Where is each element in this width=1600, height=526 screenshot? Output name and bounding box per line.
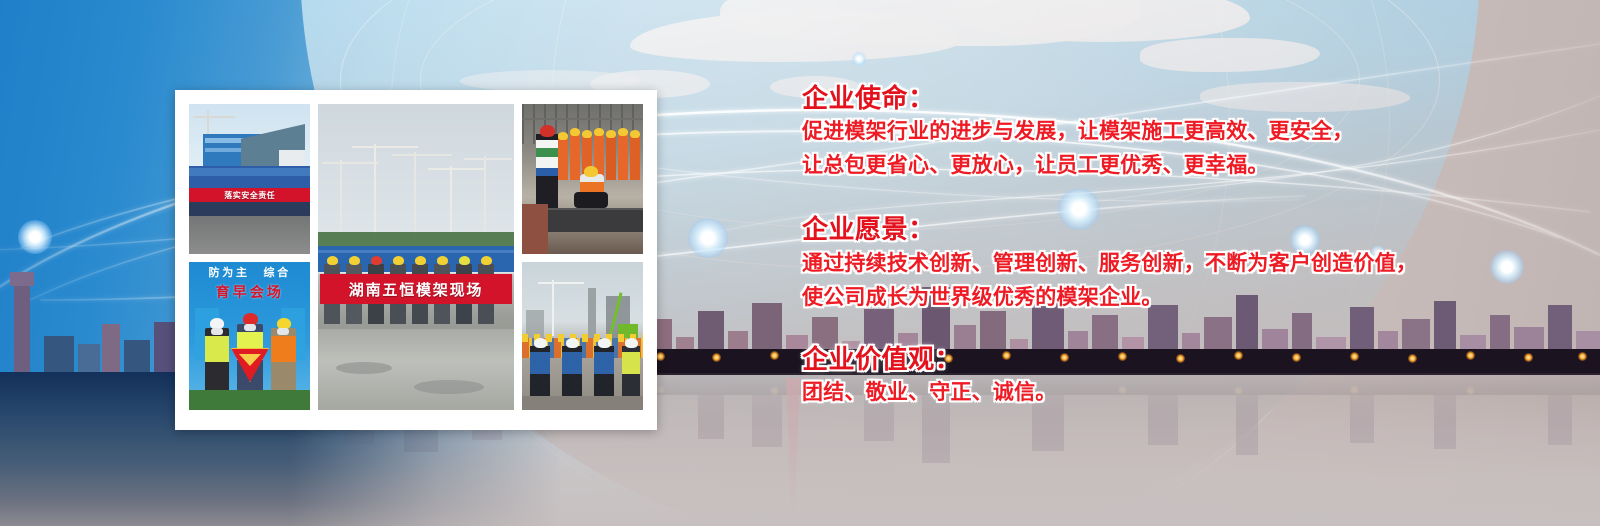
photo-hunan-wuheng-site[interactable]: 湖南五恒模架现场: [318, 104, 513, 410]
photo-banner-hunan-wuheng: 湖南五恒模架现场: [320, 274, 511, 304]
network-node-icon: [18, 220, 52, 254]
mission-line-1: 促进模架行业的进步与发展，让模架施工更高效、更安全，: [802, 115, 1562, 149]
vision-heading: 企业愿景：: [802, 213, 1562, 246]
photo-site-training[interactable]: [522, 104, 643, 254]
photo-morning-meeting[interactable]: [522, 262, 643, 410]
photo-board-caption-main: 育早会场: [189, 282, 310, 302]
photo-board-caption-top: 防为主 综合: [189, 264, 310, 280]
block-values: 企业价值观： 团结、敬业、守正、诚信。: [802, 343, 1562, 410]
mission-line-2: 让总包更省心、更放心，让员工更优秀、更幸福。: [802, 149, 1562, 183]
collage-column-left: 落实安全责任 防为主 综合 育早会场: [189, 104, 310, 416]
photo-safety-assembly[interactable]: 落实安全责任: [189, 104, 310, 254]
collage-column-right: [522, 104, 643, 416]
culture-copy-panel: 企业使命： 促进模架行业的进步与发展，让模架施工更高效、更安全， 让总包更省心、…: [802, 82, 1562, 436]
banner-root: 落实安全责任 防为主 综合 育早会场: [0, 0, 1600, 526]
vision-line-2: 使公司成长为世界级优秀的模架企业。: [802, 281, 1562, 315]
photo-collage-frame: 落实安全责任 防为主 综合 育早会场: [175, 90, 657, 430]
block-mission: 企业使命： 促进模架行业的进步与发展，让模架施工更高效、更安全， 让总包更省心、…: [802, 82, 1562, 183]
block-vision: 企业愿景： 通过持续技术创新、管理创新、服务创新，不断为客户创造价值， 使公司成…: [802, 213, 1562, 314]
photo-award-ceremony[interactable]: 防为主 综合 育早会场: [189, 262, 310, 410]
mission-heading: 企业使命：: [802, 82, 1562, 115]
values-line-1: 团结、敬业、守正、诚信。: [802, 376, 1562, 410]
network-node-icon: [852, 52, 866, 66]
collage-column-center: 湖南五恒模架现场: [318, 104, 513, 416]
vision-line-1: 通过持续技术创新、管理创新、服务创新，不断为客户创造价值，: [802, 247, 1562, 281]
photo-banner-safety: 落实安全责任: [189, 188, 310, 202]
network-node-icon: [688, 218, 728, 258]
values-heading: 企业价值观：: [802, 343, 1562, 376]
